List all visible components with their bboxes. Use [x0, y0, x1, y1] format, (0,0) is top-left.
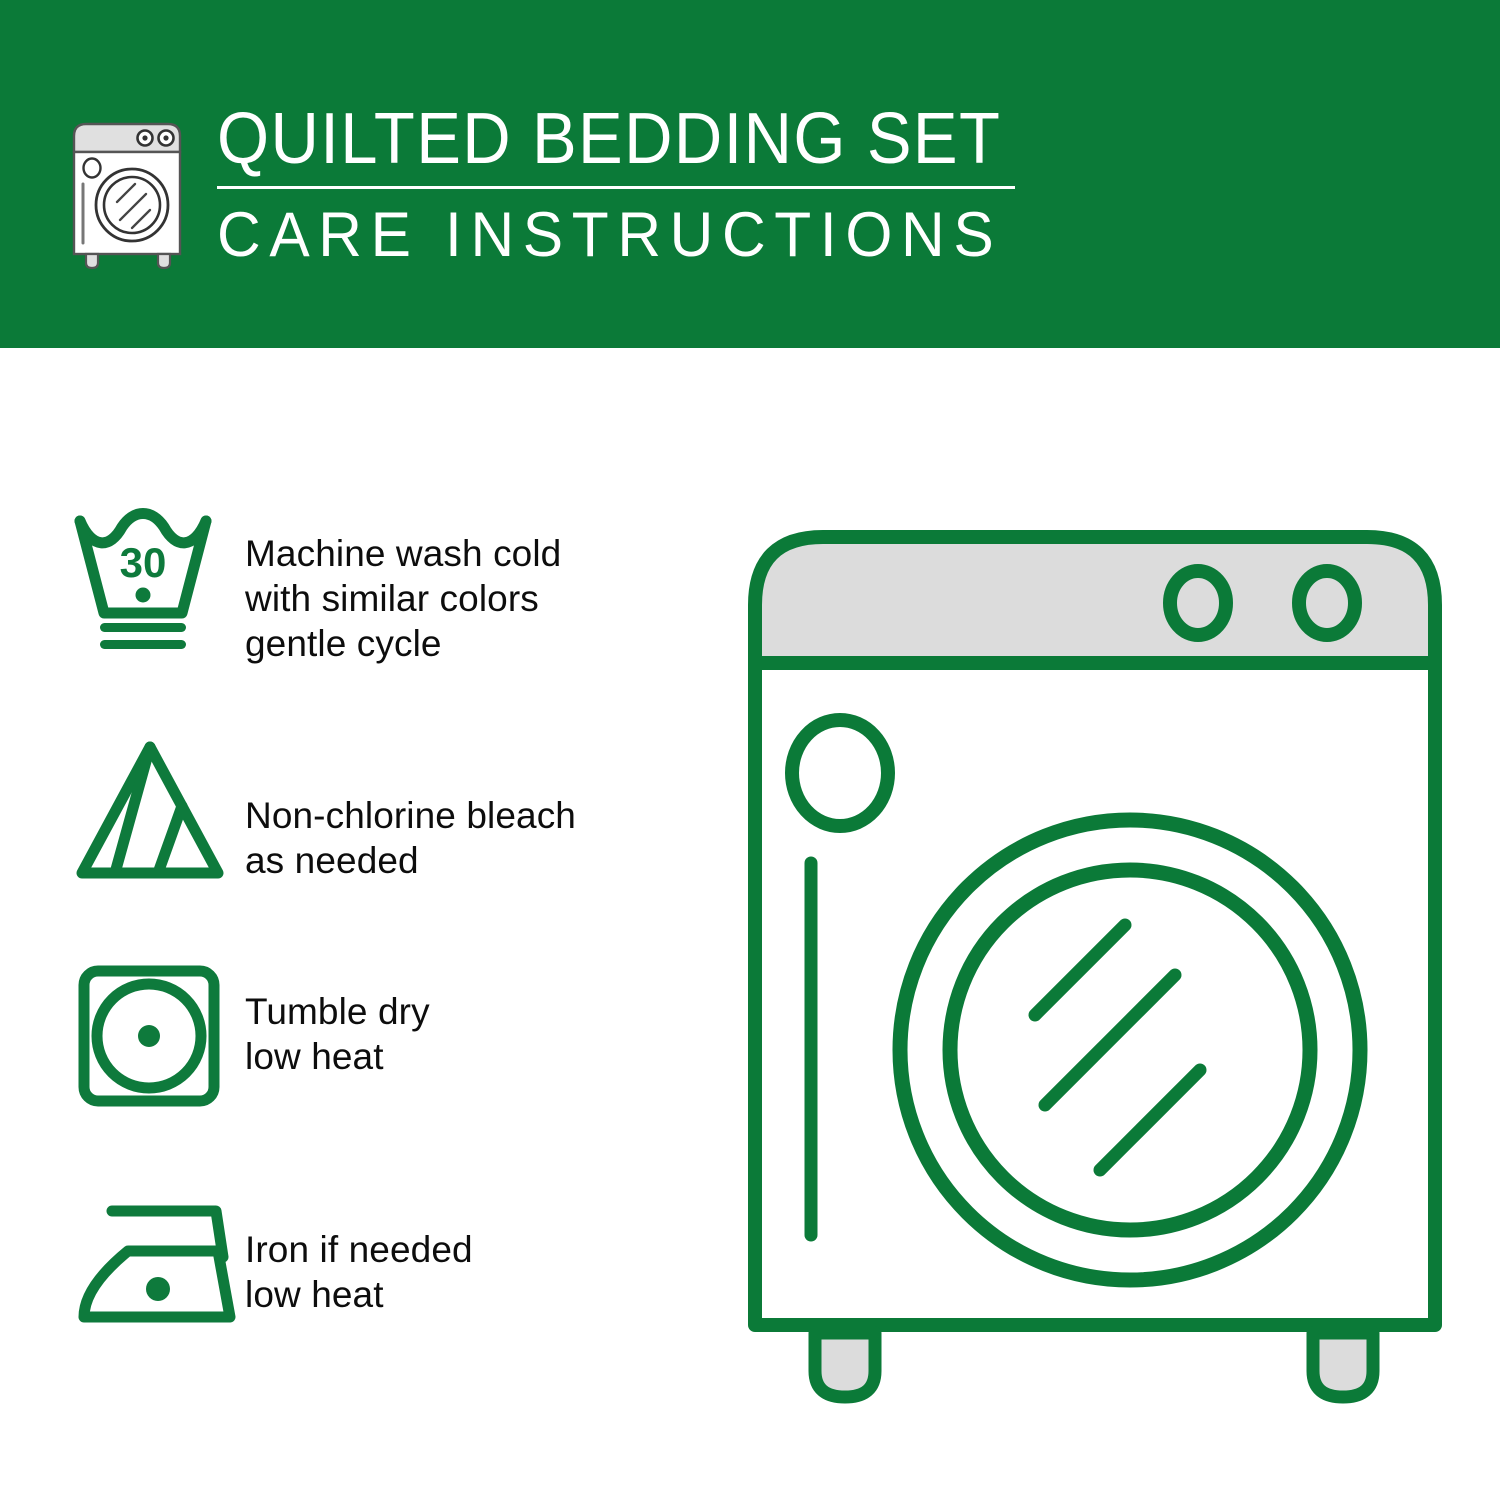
header-banner: QUILTED BEDDING SET CARE INSTRUCTIONS: [0, 0, 1500, 348]
care-row-bleach: Non-chlorine bleach as needed: [70, 733, 710, 961]
control-panel: [755, 537, 1435, 663]
non-chlorine-bleach-triangle-icon: [70, 733, 245, 893]
care-text-line: Non-chlorine bleach: [245, 793, 710, 838]
care-text-bleach: Non-chlorine bleach as needed: [245, 733, 710, 883]
tumble-dry-low-icon: [70, 961, 245, 1121]
washing-machine-icon: [62, 110, 192, 270]
care-text-line: Machine wash cold: [245, 531, 710, 576]
svg-text:30: 30: [120, 539, 167, 586]
detergent-dial: [792, 720, 888, 826]
care-row-tumble-dry: Tumble dry low heat: [70, 961, 710, 1189]
iron-low-heat-icon: [70, 1189, 245, 1349]
care-instructions-page: QUILTED BEDDING SET CARE INSTRUCTIONS 30: [0, 0, 1500, 1500]
leg-left: [815, 1333, 875, 1397]
care-text-machine-wash: Machine wash cold with similar colors ge…: [245, 505, 710, 666]
care-text-line: low heat: [245, 1034, 710, 1079]
wash-tub-30-gentle-icon: 30: [70, 505, 245, 665]
care-instruction-list: 30 Machine wash cold with similar colors…: [70, 505, 710, 1417]
leg-right: [1313, 1333, 1373, 1397]
header-text-block: QUILTED BEDDING SET CARE INSTRUCTIONS: [217, 100, 1077, 269]
care-text-line: Tumble dry: [245, 989, 710, 1034]
page-subtitle: CARE INSTRUCTIONS: [217, 201, 1043, 269]
care-text-tumble-dry: Tumble dry low heat: [245, 961, 710, 1079]
care-text-line: Iron if needed: [245, 1227, 710, 1272]
care-text-line: as needed: [245, 838, 710, 883]
care-row-machine-wash: 30 Machine wash cold with similar colors…: [70, 505, 710, 733]
door-outer-ring: [900, 820, 1360, 1280]
washing-machine-illustration: [745, 495, 1445, 1415]
motion-line: [1035, 925, 1125, 1015]
care-text-line: low heat: [245, 1272, 710, 1317]
header-divider: [217, 186, 1015, 189]
care-row-iron: Iron if needed low heat: [70, 1189, 710, 1417]
care-text-iron: Iron if needed low heat: [245, 1189, 710, 1317]
care-text-line: gentle cycle: [245, 621, 710, 666]
header-content: QUILTED BEDDING SET CARE INSTRUCTIONS: [62, 100, 1062, 280]
motion-line: [1100, 1070, 1200, 1170]
care-text-line: with similar colors: [245, 576, 710, 621]
page-title: QUILTED BEDDING SET: [217, 100, 1017, 178]
